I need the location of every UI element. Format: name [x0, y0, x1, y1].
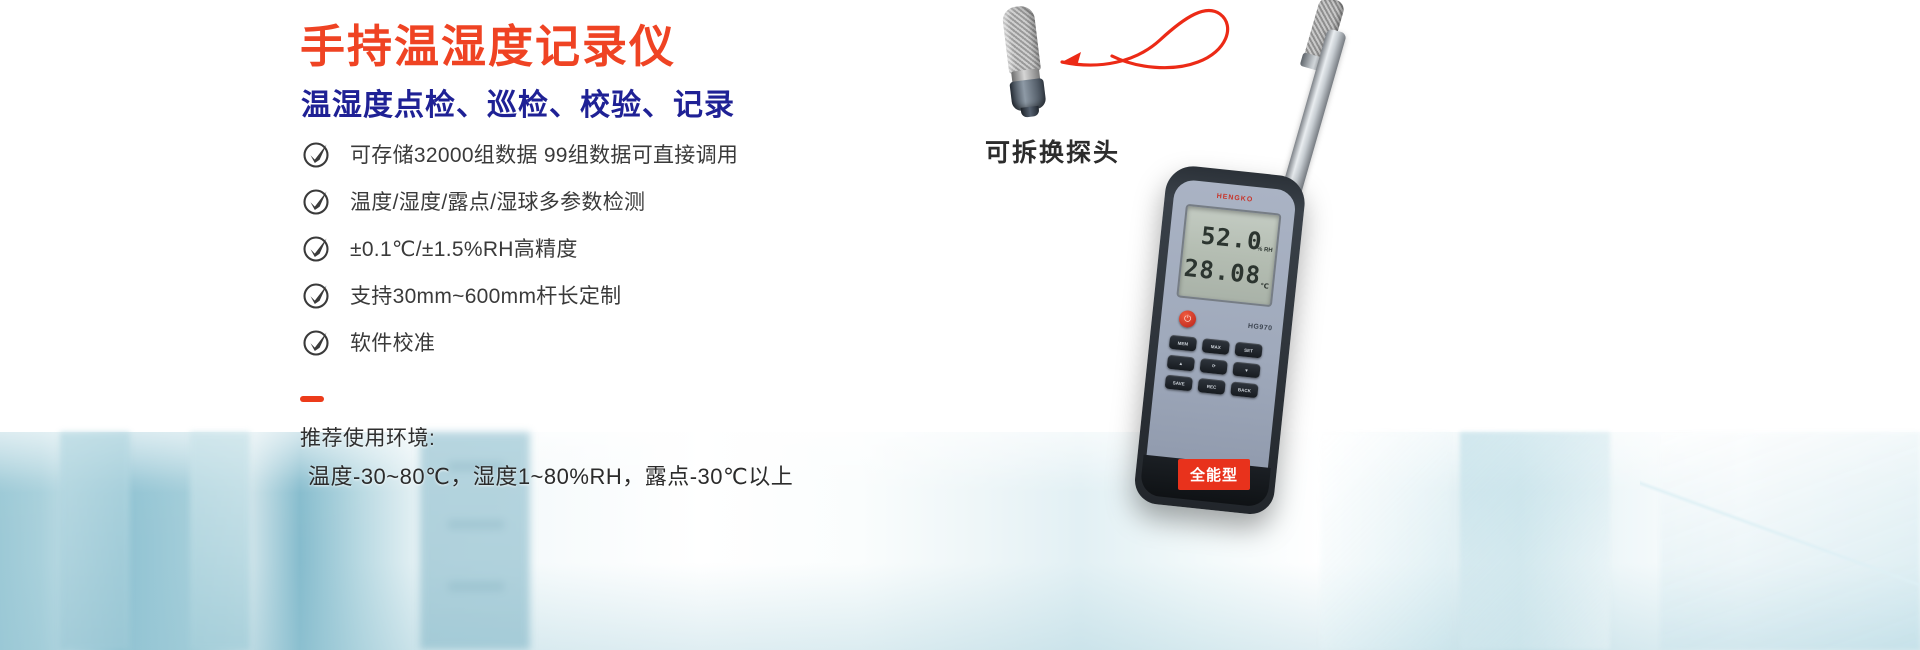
device-model-label: HG970 [1248, 323, 1273, 333]
list-item-label: 可存储32000组数据 99组数据可直接调用 [350, 139, 738, 169]
power-icon[interactable]: ⏻ [1178, 310, 1197, 329]
device-key[interactable]: REC [1197, 378, 1225, 395]
background-shelf-mid [190, 432, 250, 650]
device-key[interactable]: SET [1234, 342, 1262, 359]
environment-detail: 温度-30~80℃，湿度1~80%RH，露点-30℃以上 [308, 459, 793, 491]
environment-label: 推荐使用环境: [300, 422, 435, 452]
background-diagonal-highlight [1640, 432, 1920, 650]
check-circle-icon [302, 233, 336, 263]
check-circle-icon [302, 280, 336, 310]
device-key[interactable]: MAX [1202, 338, 1230, 355]
list-item-label: 温度/湿度/露点/湿球多参数检测 [350, 186, 645, 216]
check-circle-icon [302, 186, 336, 216]
background-glass-pane-2 [1460, 432, 1610, 650]
device-key[interactable]: BACK [1230, 381, 1258, 398]
list-item: 软件校准 [302, 318, 738, 365]
list-item: ±0.1℃/±1.5%RH高精度 [302, 224, 738, 271]
lcd-humidity-value: 52.0 [1200, 222, 1264, 256]
device-lcd-screen: 52.0 % RH 28.08 ℃ [1176, 204, 1281, 308]
lcd-temperature-value: 28.08 [1183, 254, 1263, 290]
list-item: 可存储32000组数据 99组数据可直接调用 [302, 130, 738, 177]
probe-caption: 可拆换探头 [985, 133, 1120, 169]
page-subtitle: 温湿度点检、巡检、校验、记录 [301, 80, 735, 124]
product-banner: 手持温湿度记录仪 温湿度点检、巡检、校验、记录 可存储32000组数据 99组数… [0, 0, 1920, 650]
device-keypad: MEM MAX SET ▲ ⟳ ▼ SAVE REC BACK [1158, 335, 1270, 465]
feature-list: 可存储32000组数据 99组数据可直接调用 温度/湿度/露点/湿球多参数检测 … [302, 130, 738, 365]
probe-mesh-filter [1001, 5, 1041, 74]
page-title: 手持温湿度记录仪 [300, 10, 676, 75]
device-key[interactable]: MEM [1169, 335, 1197, 352]
device-key[interactable]: ⟳ [1200, 358, 1228, 375]
list-item-label: 支持30mm~600mm杆长定制 [350, 280, 621, 310]
device-key[interactable]: SAVE [1165, 375, 1193, 392]
background-shelf-left [60, 432, 130, 650]
status-badge: 全能型 [1178, 459, 1250, 490]
probe-connector-tip [1021, 106, 1040, 118]
section-divider-dash [300, 396, 324, 402]
device-front-panel: HENGKO 52.0 % RH 28.08 ℃ ⏻ HG970 MEM MAX… [1143, 178, 1297, 501]
device-key[interactable]: ▼ [1232, 362, 1260, 379]
list-item-label: ±0.1℃/±1.5%RH高精度 [350, 233, 578, 263]
handheld-thermo-hygrometer-image: HENGKO 52.0 % RH 28.08 ℃ ⏻ HG970 MEM MAX… [1098, 0, 1398, 530]
check-circle-icon [302, 139, 336, 169]
list-item: 温度/湿度/露点/湿球多参数检测 [302, 177, 738, 224]
list-item: 支持30mm~600mm杆长定制 [302, 271, 738, 318]
list-item-label: 软件校准 [350, 327, 435, 357]
lcd-temperature-unit: ℃ [1260, 282, 1269, 291]
check-circle-icon [302, 327, 336, 357]
device-key[interactable]: ▲ [1167, 355, 1195, 372]
background-photo-strip [0, 432, 1920, 650]
